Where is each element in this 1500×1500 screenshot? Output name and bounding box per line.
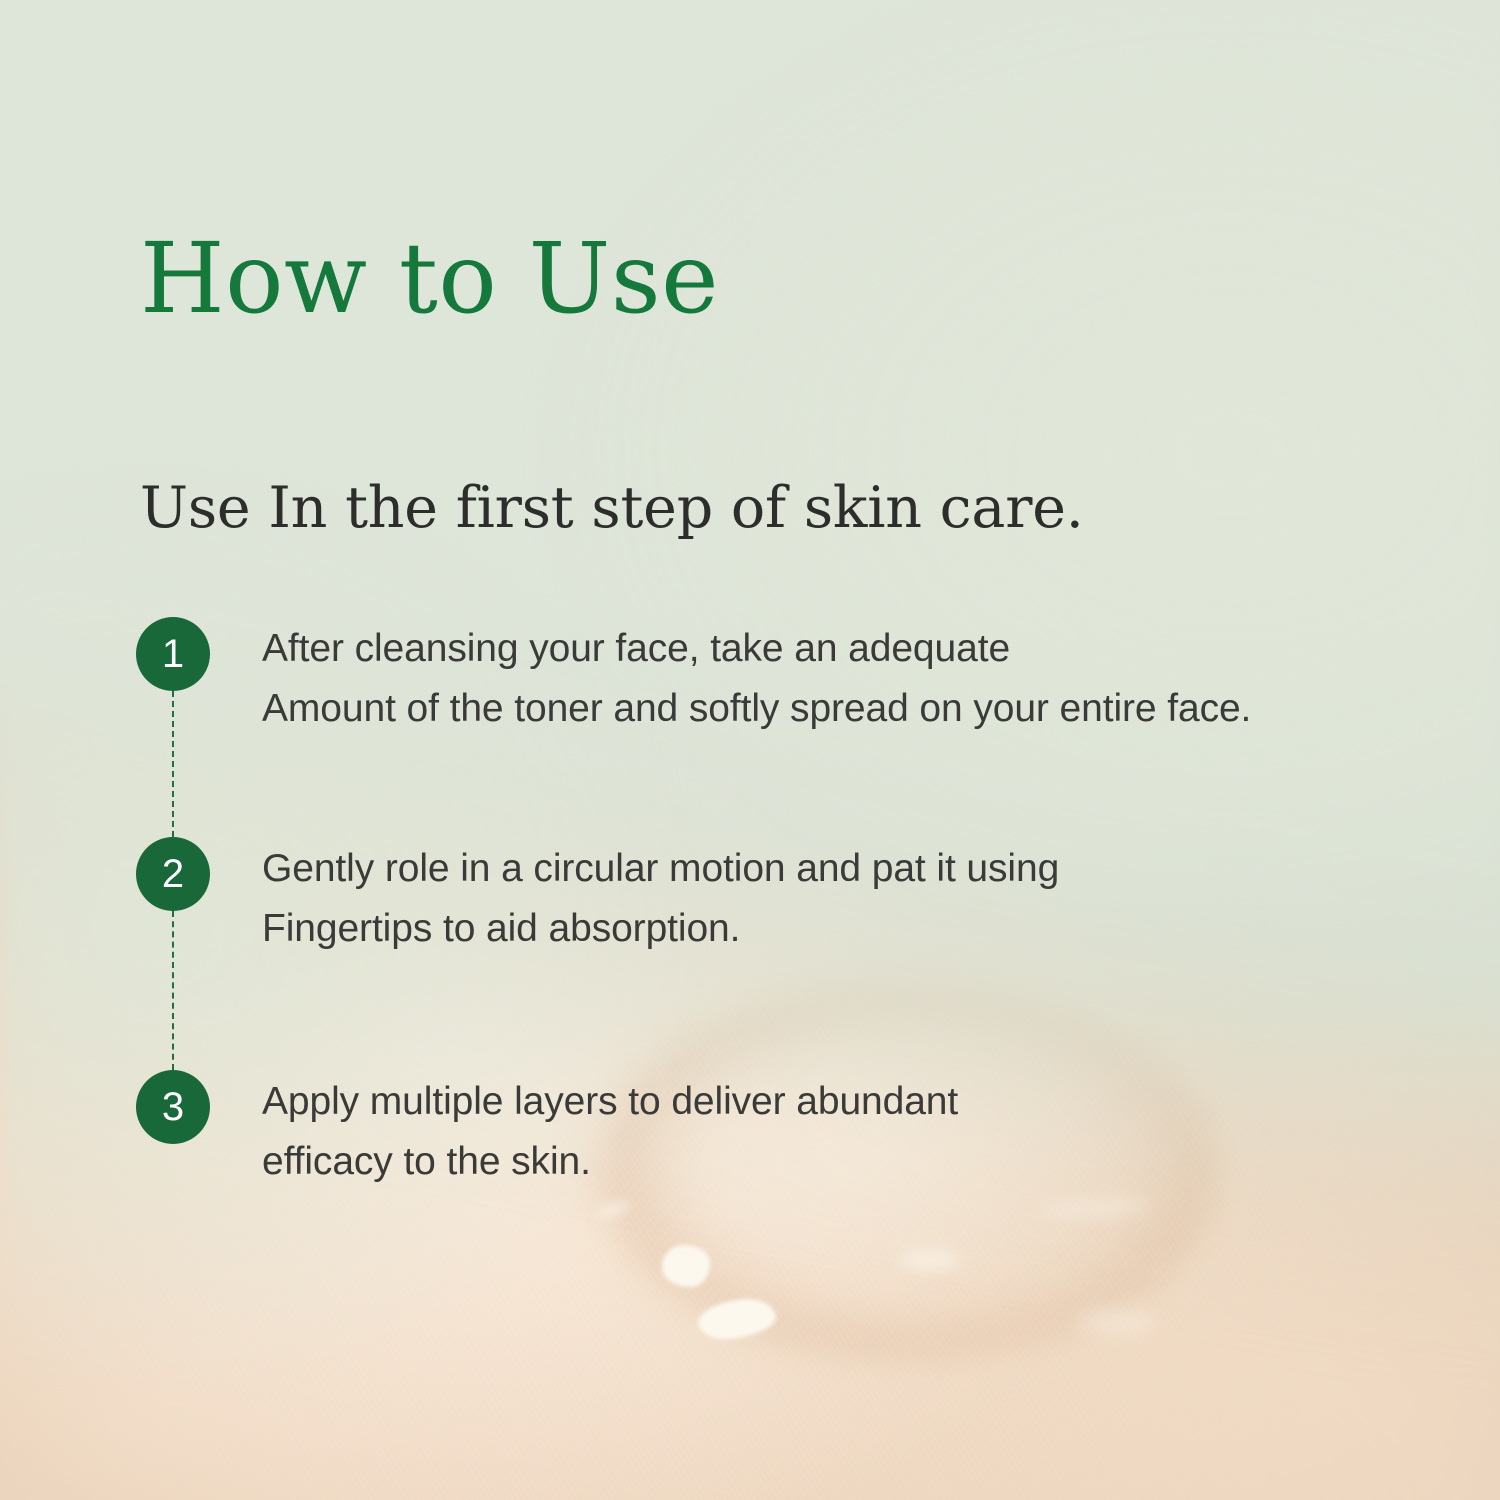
steps-list: 1 After cleansing your face, take an ade…: [136, 617, 1436, 1230]
step-number-badge-2: 2: [136, 837, 210, 911]
step-connector-line: [172, 911, 174, 1070]
step-number-badge-1: 1: [136, 617, 210, 691]
step-text-2: Gently role in a circular motion and pat…: [262, 837, 1059, 959]
how-to-use-poster: How to Use Use In the first step of skin…: [0, 0, 1500, 1500]
page-title: How to Use: [140, 228, 719, 330]
step-connector-line: [172, 691, 174, 837]
step-text-3: Apply multiple layers to deliver abundan…: [262, 1070, 958, 1192]
step-text-1: After cleansing your face, take an adequ…: [262, 617, 1251, 739]
step-number-badge-3: 3: [136, 1070, 210, 1144]
step-item-1: 1 After cleansing your face, take an ade…: [136, 617, 1436, 837]
page-subtitle: Use In the first step of skin care.: [140, 477, 1084, 540]
step-item-3: 3 Apply multiple layers to deliver abund…: [136, 1070, 1436, 1230]
step-item-2: 2 Gently role in a circular motion and p…: [136, 837, 1436, 1070]
poster-content: How to Use Use In the first step of skin…: [0, 0, 1500, 1500]
